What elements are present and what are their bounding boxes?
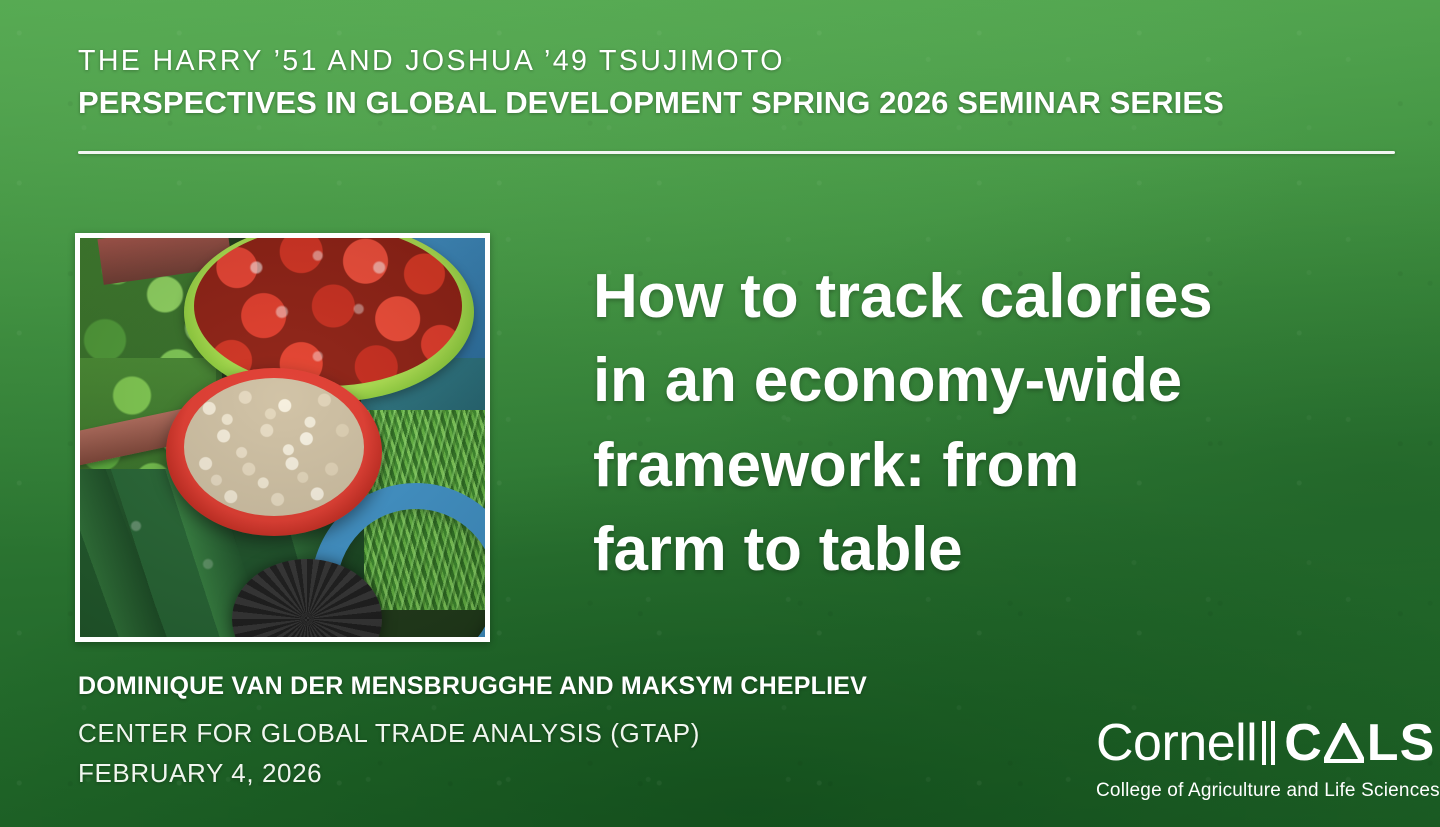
vegetables-photo	[80, 238, 485, 637]
series-kicker: THE HARRY ’51 AND JOSHUA ’49 TSUJIMOTO	[78, 46, 1378, 76]
logo-cals-text: C L S	[1284, 717, 1433, 769]
logo-divider-bars-icon	[1262, 721, 1275, 765]
cornell-cals-logo: Cornell C L S College of Agriculture and…	[1096, 714, 1440, 802]
logo-wordmark: Cornell C L S	[1096, 714, 1440, 772]
logo-cornell-text: Cornell	[1096, 717, 1257, 769]
seminar-slide: THE HARRY ’51 AND JOSHUA ’49 TSUJIMOTO P…	[0, 0, 1440, 827]
logo-triangle-a-icon	[1324, 723, 1364, 763]
series-title: PERSPECTIVES IN GLOBAL DEVELOPMENT SPRIN…	[78, 87, 1398, 119]
title-line-2: in an economy-wide	[593, 339, 1393, 423]
logo-cals-l: L	[1367, 717, 1398, 769]
event-date: FEBRUARY 4, 2026	[78, 758, 322, 789]
tomato-highlight-icon	[200, 238, 456, 380]
speaker-affiliation: CENTER FOR GLOBAL TRADE ANALYSIS (GTAP)	[78, 718, 700, 749]
title-line-4: farm to table	[593, 508, 1393, 592]
speaker-names: DOMINIQUE VAN DER MENSBRUGGHE AND MAKSYM…	[78, 672, 867, 701]
page-title: How to track calories in an economy-wide…	[593, 255, 1393, 592]
logo-cals-s: S	[1400, 717, 1434, 769]
logo-tagline: College of Agriculture and Life Sciences	[1096, 780, 1440, 802]
vegetables-photo-frame	[75, 233, 490, 642]
header-divider	[78, 151, 1395, 154]
title-line-1: How to track calories	[593, 255, 1393, 339]
title-line-3: framework: from	[593, 424, 1393, 508]
header: THE HARRY ’51 AND JOSHUA ’49 TSUJIMOTO P…	[78, 46, 1398, 119]
white-beans-icon	[184, 378, 364, 516]
logo-cals-c: C	[1284, 717, 1321, 769]
